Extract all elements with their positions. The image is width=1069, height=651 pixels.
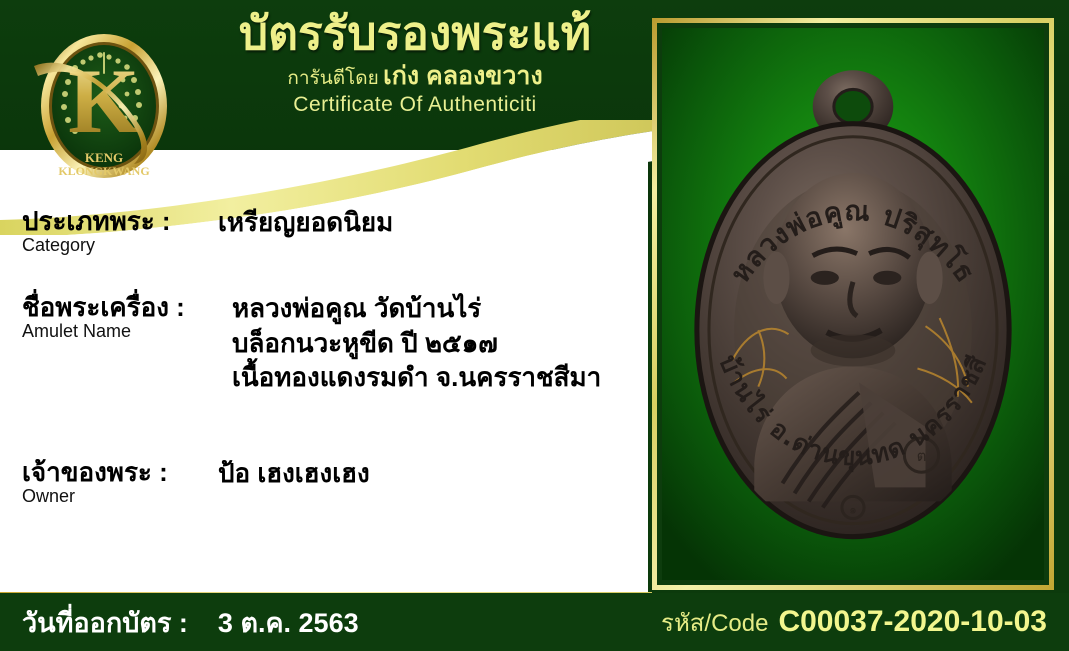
issue-date-block: วันที่ออกบัตร : 3 ต.ค. 2563 (22, 601, 359, 644)
svg-text:๑: ๑ (849, 503, 857, 517)
field-category: ประเภทพระ : Category เหรียญยอดนิยม (22, 205, 642, 255)
amulet-name-label-th: ชื่อพระเครื่อง : (22, 291, 232, 324)
certificate-title-en: Certificate Of Authenticiti (180, 93, 650, 117)
field-owner: เจ้าของพระ : Owner ป้อ เฮงเฮงเฮง (22, 456, 642, 506)
logo-name-line1: KENG (85, 150, 123, 165)
owner-label-en: Owner (22, 487, 218, 507)
owner-value-col: ป้อ เฮงเฮงเฮง (218, 456, 642, 490)
code-block: รหัส/Code C00037-2020-10-03 (661, 603, 1047, 642)
footer-bar: วันที่ออกบัตร : 3 ต.ค. 2563 รหัส/Code C0… (0, 593, 1069, 651)
category-label-en: Category (22, 236, 218, 256)
amulet-photo: ต ๑ (662, 28, 1044, 580)
spacer-after-name (22, 400, 642, 456)
amulet-name-value-col: หลวงพ่อคูณ วัดบ้านไร่ บล็อกนวะหูขีด ปี ๒… (232, 291, 642, 394)
amulet-name-label-col: ชื่อพระเครื่อง : Amulet Name (22, 291, 232, 341)
logo-letter: K (68, 50, 140, 152)
certificate-card: K KENG KLONGKWANG บัตรรับรองพระแท้ การัน… (0, 0, 1069, 651)
owner-label-th: เจ้าของพระ : (22, 456, 218, 489)
brand-logo: K KENG KLONGKWANG (28, 22, 180, 190)
certificate-title-th: บัตรรับรองพระแท้ (180, 8, 650, 60)
category-label-col: ประเภทพระ : Category (22, 205, 218, 255)
owner-value: ป้อ เฮงเฮงเฮง (218, 458, 370, 488)
guarantee-line: การันตีโดย เก่ง คลองขวาง (180, 62, 650, 91)
issue-date-label: วันที่ออกบัตร : (22, 608, 188, 638)
amulet-name-line-2: บล็อกนวะหูขีด ปี ๒๕๑๗ (232, 326, 642, 360)
guarantee-name: เก่ง คลองขวาง (383, 62, 542, 90)
issue-date-value: 3 ต.ค. 2563 (218, 608, 359, 638)
category-value: เหรียญยอดนิยม (218, 207, 393, 237)
amulet-photo-frame-inner: ต ๑ (657, 23, 1049, 585)
amulet-name-line-3: เนื้อทองแดงรมดำ จ.นครราชสีมา (232, 360, 642, 394)
field-list: ประเภทพระ : Category เหรียญยอดนิยม ชื่อพ… (22, 205, 642, 513)
amulet-photo-frame: ต ๑ (652, 18, 1054, 590)
spacer-after-category (22, 261, 642, 291)
category-value-col: เหรียญยอดนิยม (218, 205, 642, 239)
amulet-name-line-1: หลวงพ่อคูณ วัดบ้านไร่ (232, 291, 642, 325)
field-amulet-name: ชื่อพระเครื่อง : Amulet Name หลวงพ่อคูณ … (22, 291, 642, 394)
logo-name-line2: KLONGKWANG (58, 164, 149, 178)
header-text-block: บัตรรับรองพระแท้ การันตีโดย เก่ง คลองขวา… (180, 8, 650, 117)
guarantee-prefix: การันตีโดย (287, 68, 378, 89)
code-value: C00037-2020-10-03 (778, 605, 1047, 639)
code-label: รหัส/Code (661, 603, 768, 642)
amulet-illustration: ต ๑ (662, 28, 1044, 580)
amulet-name-label-en: Amulet Name (22, 322, 232, 342)
category-label-th: ประเภทพระ : (22, 205, 218, 238)
owner-label-col: เจ้าของพระ : Owner (22, 456, 218, 506)
